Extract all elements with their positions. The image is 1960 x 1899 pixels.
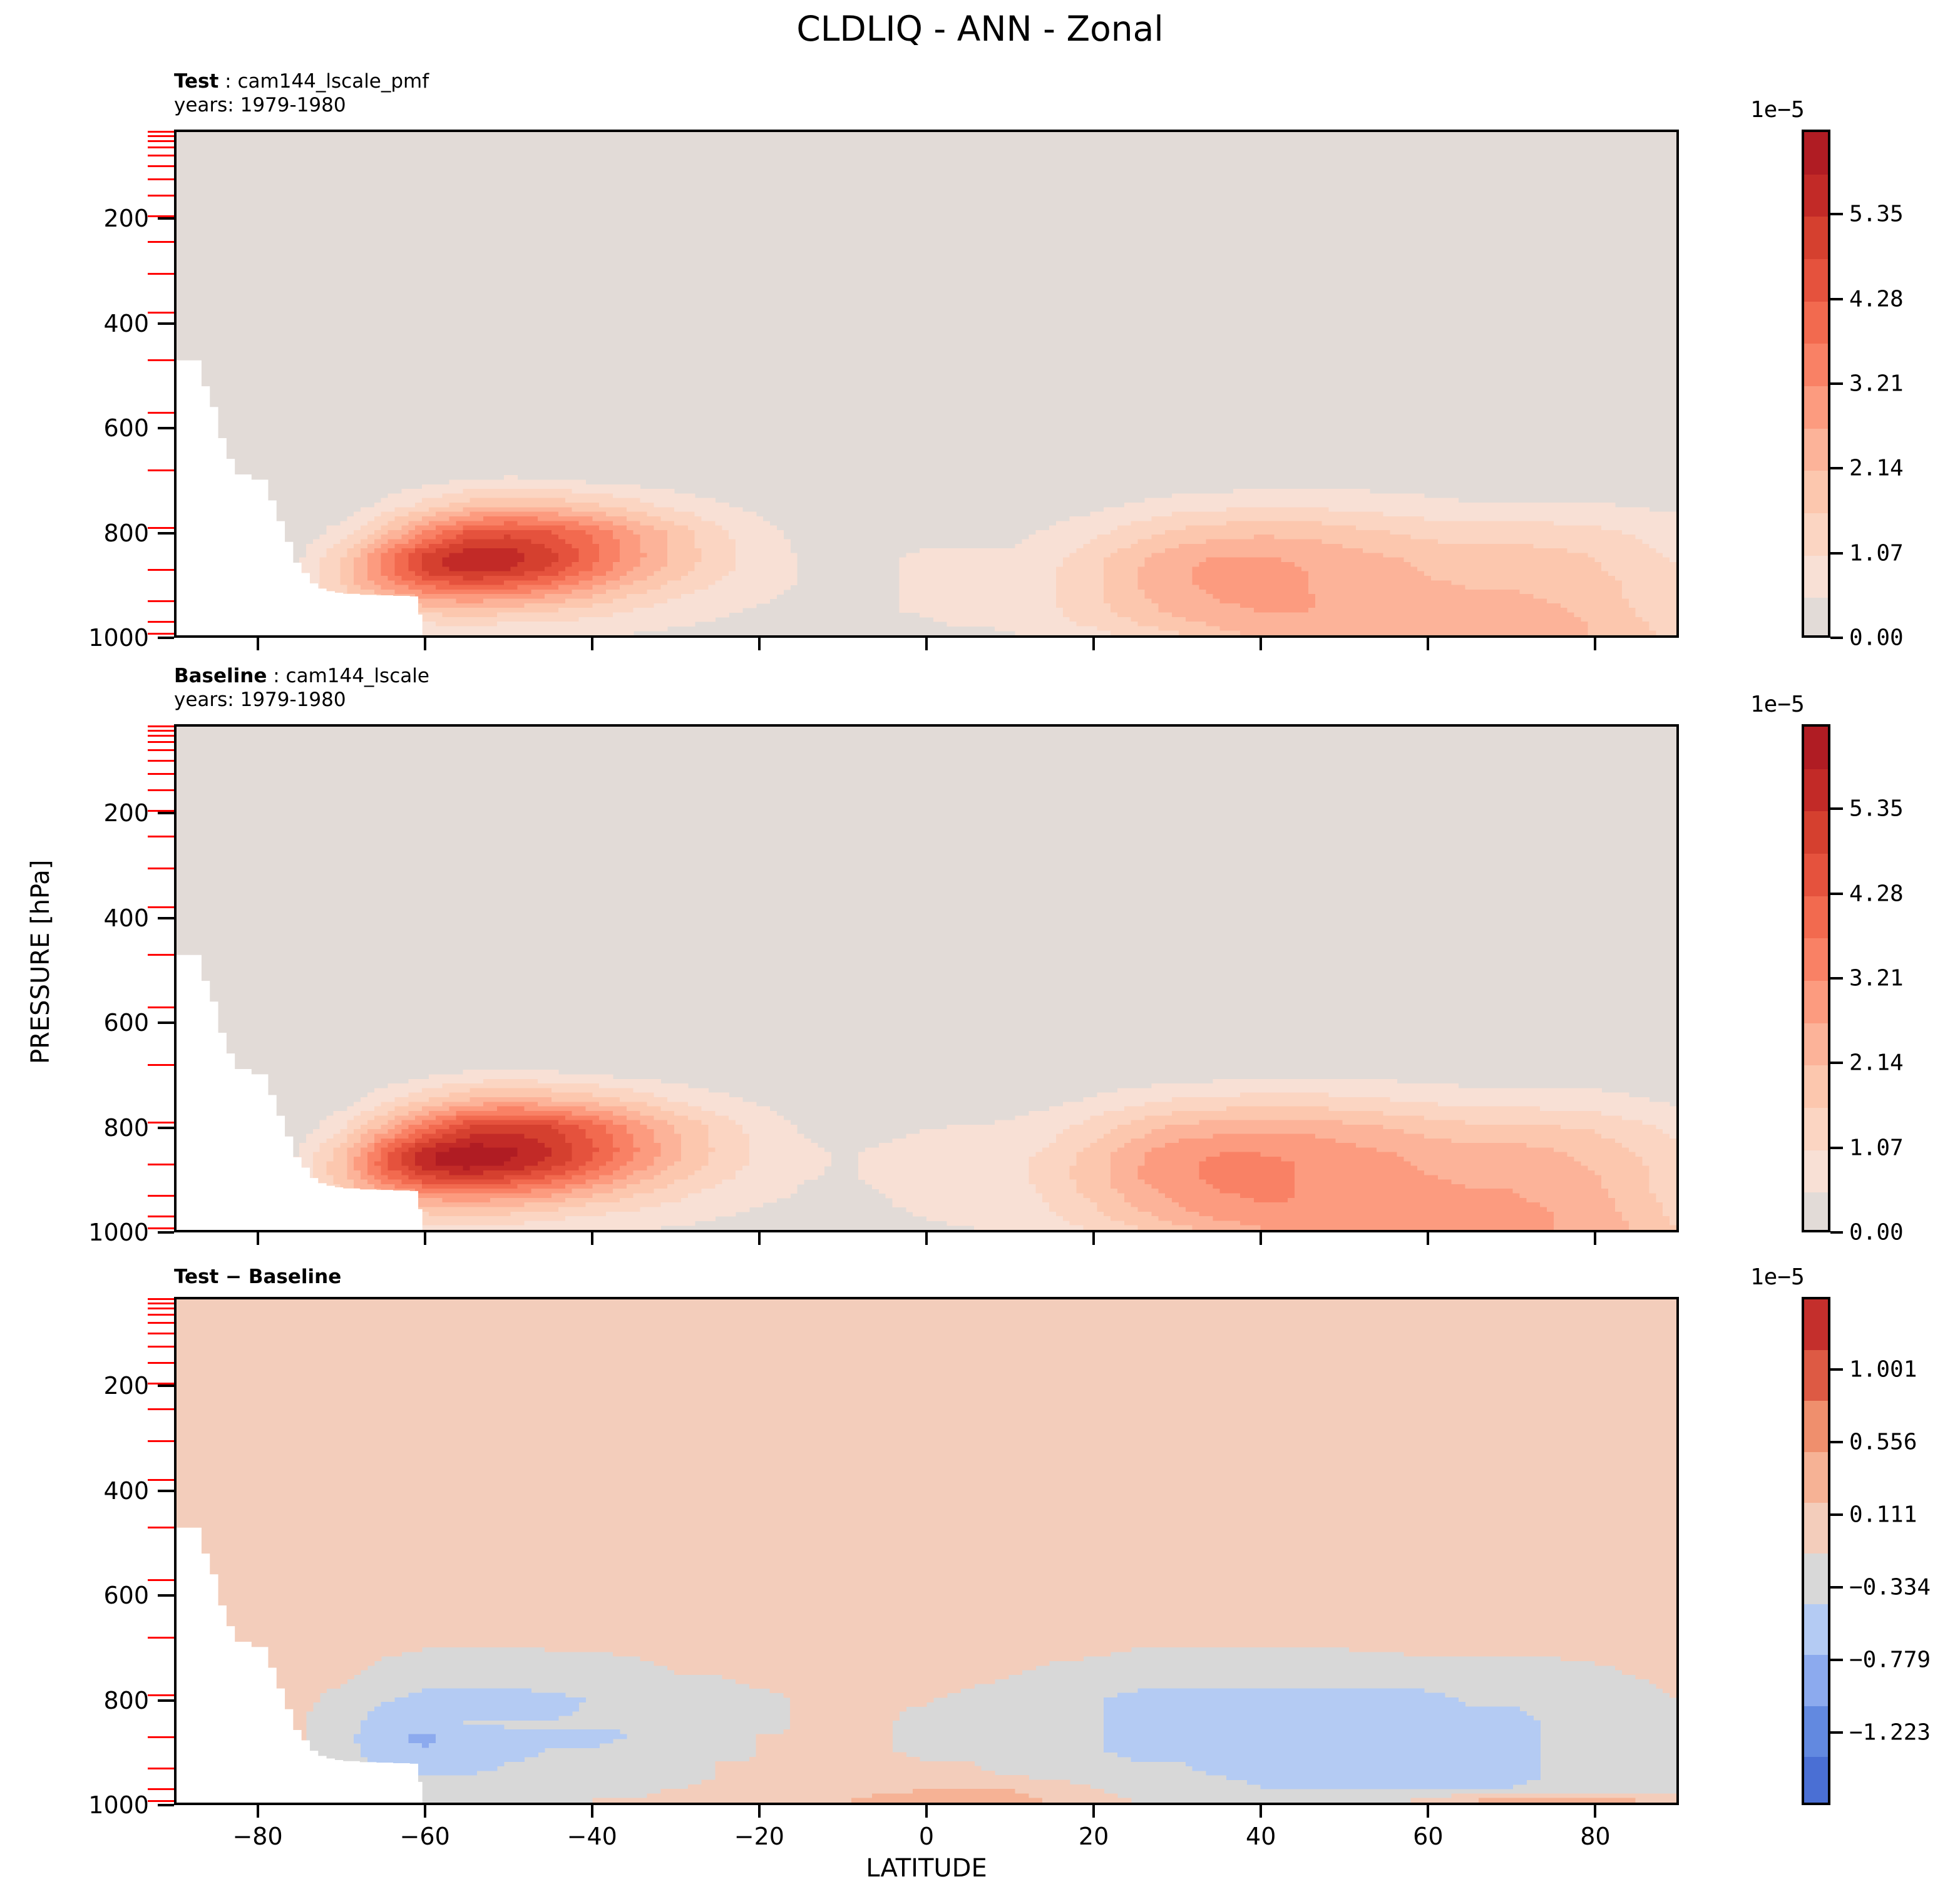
- panel-difference: Test − Baseline: [0, 0, 1960, 1899]
- ytick-label: 800: [36, 1114, 149, 1142]
- ytick-minor-level: [148, 569, 174, 571]
- xtick-major: [1260, 1232, 1262, 1245]
- colorbar-segment: [1804, 811, 1828, 854]
- colorbar-tick: [1830, 213, 1843, 215]
- colorbar-segment: [1804, 727, 1828, 769]
- xtick-label: 0: [919, 1823, 934, 1850]
- colorbar-tick: [1830, 1513, 1843, 1516]
- colorbar-segment: [1804, 1503, 1828, 1553]
- ytick-minor-level: [148, 165, 174, 167]
- xtick-major: [1092, 638, 1095, 650]
- colorbar-tick: [1830, 807, 1843, 810]
- ytick-label: 1000: [36, 624, 149, 652]
- ytick-minor-level: [148, 730, 174, 732]
- colorbar-segment: [1804, 1655, 1828, 1706]
- colorbar-tick: [1830, 1731, 1843, 1734]
- ytick-minor-level: [148, 1006, 174, 1008]
- ytick-minor-level: [148, 1768, 174, 1769]
- ytick-minor-level: [148, 312, 174, 314]
- colorbar-tick: [1830, 1062, 1843, 1064]
- colorbar-segment: [1804, 344, 1828, 386]
- colorbar-tick-label: 1.001: [1849, 1357, 1917, 1383]
- panel-difference-header-bold: Test − Baseline: [174, 1266, 341, 1288]
- colorbar-segment: [1804, 1065, 1828, 1108]
- xtick-major: [925, 1805, 928, 1818]
- colorbar-segment: [1804, 1192, 1828, 1232]
- ytick-minor-level: [148, 146, 174, 148]
- ytick-major: [158, 1699, 174, 1702]
- colorbar-tick-label: 1.07: [1849, 540, 1904, 566]
- colorbar-tick-label: 0.556: [1849, 1430, 1917, 1455]
- xtick-major: [1092, 1232, 1095, 1245]
- xtick-label: −40: [567, 1823, 617, 1850]
- colorbar-tick-label: 4.28: [1849, 881, 1904, 906]
- figure-root: CLDLIQ - ANN - Zonal Test : cam144_lscal…: [0, 0, 1960, 1899]
- xtick-major: [424, 1232, 426, 1245]
- xtick-label: 80: [1580, 1823, 1610, 1850]
- xtick-major: [591, 638, 593, 650]
- colorbar-baseline: [1802, 724, 1830, 1232]
- colorbar-tick: [1830, 1368, 1843, 1371]
- ytick-minor-level: [148, 1346, 174, 1348]
- ytick-minor-level: [148, 155, 174, 156]
- colorbar-segment: [1804, 769, 1828, 812]
- ytick-major: [158, 1021, 174, 1024]
- colorbar-tick-label: 5.35: [1849, 796, 1904, 822]
- ytick-minor-level: [148, 633, 174, 635]
- axis-x-label: LATITUDE: [866, 1854, 987, 1883]
- colorbar-segment: [1804, 175, 1828, 217]
- ytick-minor-level: [148, 131, 174, 133]
- ytick-major: [158, 917, 174, 919]
- ytick-minor-level: [148, 741, 174, 743]
- colorbar-segment: [1804, 259, 1828, 302]
- xtick-major: [758, 1805, 761, 1818]
- ytick-minor-level: [148, 773, 174, 775]
- colorbar-tick-label: 2.14: [1849, 1050, 1904, 1076]
- ytick-minor-level: [148, 1479, 174, 1481]
- colorbar-tick: [1830, 1586, 1843, 1589]
- axis-y-label: PRESSURE [hPa]: [26, 860, 55, 1064]
- colorbar-tick: [1830, 1231, 1843, 1234]
- ytick-major: [158, 1594, 174, 1597]
- ytick-minor-level: [148, 906, 174, 908]
- ytick-minor-level: [148, 1408, 174, 1410]
- colorbar-segment: [1804, 1023, 1828, 1066]
- xtick-major: [1427, 1232, 1429, 1245]
- ytick-minor-level: [148, 1322, 174, 1324]
- ytick-minor-level: [148, 527, 174, 529]
- ytick-minor-level: [148, 1314, 174, 1316]
- ytick-label: 800: [36, 520, 149, 547]
- ytick-major: [158, 1385, 174, 1387]
- ytick-minor-level: [148, 760, 174, 762]
- colorbar-tick-label: 5.35: [1849, 202, 1904, 227]
- plot-area-difference[interactable]: [174, 1297, 1679, 1805]
- xtick-label: 60: [1413, 1823, 1443, 1850]
- contour-field-difference: [177, 1299, 1676, 1803]
- colorbar-segment: [1804, 1350, 1828, 1401]
- ytick-minor-level: [148, 273, 174, 275]
- colorbar-tick: [1830, 977, 1843, 980]
- xtick-label: 20: [1079, 1823, 1109, 1850]
- colorbar-tick-label: 0.00: [1849, 1220, 1904, 1246]
- ytick-minor-level: [148, 836, 174, 837]
- ytick-minor-level: [148, 195, 174, 197]
- xtick-major: [1427, 1805, 1429, 1818]
- colorbar-segment: [1804, 1150, 1828, 1193]
- ytick-label: 1000: [36, 1791, 149, 1819]
- ytick-minor-level: [148, 215, 174, 217]
- ytick-major: [158, 217, 174, 220]
- ytick-minor-level: [148, 1440, 174, 1442]
- ytick-minor-level: [148, 359, 174, 361]
- colorbar-exponent-label: 1e−5: [1750, 692, 1805, 717]
- colorbar-segment: [1804, 386, 1828, 429]
- colorbar-segment: [1804, 1553, 1828, 1604]
- colorbar-segment: [1804, 1401, 1828, 1451]
- xtick-major: [1260, 638, 1262, 650]
- ytick-minor-level: [148, 1227, 174, 1229]
- ytick-minor-level: [148, 1579, 174, 1581]
- colorbar-tick: [1830, 298, 1843, 300]
- colorbar-difference: [1802, 1297, 1830, 1805]
- colorbar-segment: [1804, 513, 1828, 556]
- ytick-major: [158, 427, 174, 429]
- colorbar-tick: [1830, 467, 1843, 469]
- xtick-major: [1260, 1805, 1262, 1818]
- xtick-major: [1594, 1232, 1596, 1245]
- colorbar-segment: [1804, 854, 1828, 896]
- xtick-major: [591, 1805, 593, 1818]
- ytick-minor-level: [148, 135, 174, 137]
- colorbar-tick-label: 3.21: [1849, 966, 1904, 991]
- ytick-minor-level: [148, 1308, 174, 1309]
- ytick-label: 200: [36, 799, 149, 827]
- xtick-major: [424, 1805, 426, 1818]
- ytick-minor-level: [148, 621, 174, 623]
- ytick-minor-level: [148, 735, 174, 737]
- ytick-label: 200: [36, 1372, 149, 1400]
- colorbar-segment: [1804, 429, 1828, 471]
- ytick-minor-level: [148, 1122, 174, 1124]
- xtick-major: [925, 638, 928, 650]
- ytick-label: 600: [36, 1582, 149, 1609]
- ytick-label: 200: [36, 205, 149, 232]
- ytick-minor-level: [148, 954, 174, 956]
- colorbar-tick-label: −0.779: [1849, 1647, 1931, 1673]
- ytick-label: 400: [36, 310, 149, 337]
- colorbar-tick-label: 3.21: [1849, 371, 1904, 397]
- panel-difference-header: Test − Baseline: [174, 1266, 341, 1289]
- colorbar-tick: [1830, 1441, 1843, 1443]
- ytick-minor-level: [148, 810, 174, 812]
- xtick-major: [257, 1232, 259, 1245]
- ytick-minor-level: [148, 1694, 174, 1696]
- colorbar-segment: [1804, 132, 1828, 175]
- colorbar-test: [1802, 130, 1830, 638]
- ytick-minor-level: [148, 749, 174, 751]
- colorbar-tick: [1830, 1659, 1843, 1661]
- ytick-minor-level: [148, 1164, 174, 1165]
- colorbar-tick: [1830, 552, 1843, 555]
- ytick-minor-level: [148, 1527, 174, 1528]
- ytick-minor-level: [148, 1637, 174, 1639]
- ytick-minor-level: [148, 1333, 174, 1334]
- colorbar-tick: [1830, 893, 1843, 895]
- ytick-minor-level: [148, 1736, 174, 1738]
- colorbar-segment: [1804, 598, 1828, 638]
- colorbar-segment: [1804, 1299, 1828, 1350]
- colorbar-tick-label: −1.223: [1849, 1720, 1931, 1746]
- colorbar-segment: [1804, 556, 1828, 598]
- xtick-label: 40: [1246, 1823, 1276, 1850]
- ytick-minor-level: [148, 1303, 174, 1304]
- ytick-minor-level: [148, 1788, 174, 1790]
- xtick-major: [424, 638, 426, 650]
- ytick-major: [158, 812, 174, 814]
- xtick-major: [758, 1232, 761, 1245]
- ytick-major: [158, 1490, 174, 1492]
- ytick-minor-level: [148, 725, 174, 727]
- colorbar-exponent-label: 1e−5: [1750, 1264, 1805, 1290]
- xtick-major: [758, 638, 761, 650]
- colorbar-segment: [1804, 1757, 1828, 1805]
- colorbar-tick: [1830, 1147, 1843, 1149]
- ytick-minor-level: [148, 469, 174, 471]
- ytick-minor-level: [148, 868, 174, 869]
- colorbar-segment: [1804, 1604, 1828, 1655]
- xtick-major: [591, 1232, 593, 1245]
- ytick-minor-level: [148, 1216, 174, 1217]
- ytick-label: 400: [36, 1477, 149, 1505]
- xtick-major: [925, 1232, 928, 1245]
- ytick-minor-level: [148, 1383, 174, 1385]
- ytick-minor-level: [148, 178, 174, 180]
- ytick-minor-level: [148, 140, 174, 142]
- ytick-major: [158, 637, 174, 639]
- ytick-minor-level: [148, 241, 174, 243]
- xtick-major: [257, 638, 259, 650]
- colorbar-tick-label: 0.111: [1849, 1502, 1917, 1528]
- colorbar-tick-label: 4.28: [1849, 286, 1904, 312]
- ytick-label: 600: [36, 414, 149, 442]
- colorbar-tick-label: −0.334: [1849, 1575, 1931, 1600]
- ytick-minor-level: [148, 1298, 174, 1300]
- ytick-label: 800: [36, 1687, 149, 1714]
- ytick-minor-level: [148, 1195, 174, 1197]
- ytick-major: [158, 1231, 174, 1234]
- ytick-major: [158, 1127, 174, 1129]
- colorbar-tick-label: 1.07: [1849, 1135, 1904, 1160]
- colorbar-segment: [1804, 938, 1828, 981]
- xtick-label: −80: [232, 1823, 282, 1850]
- colorbar-segment: [1804, 471, 1828, 513]
- xtick-major: [1594, 1805, 1596, 1818]
- colorbar-segment: [1804, 1108, 1828, 1150]
- colorbar-exponent-label: 1e−5: [1750, 97, 1805, 123]
- xtick-major: [257, 1805, 259, 1818]
- colorbar-segment: [1804, 896, 1828, 939]
- xtick-major: [1092, 1805, 1095, 1818]
- xtick-major: [1594, 638, 1596, 650]
- xtick-label: −60: [400, 1823, 450, 1850]
- ytick-minor-level: [148, 412, 174, 414]
- colorbar-tick: [1830, 382, 1843, 385]
- ytick-minor-level: [148, 1800, 174, 1802]
- colorbar-tick-label: 2.14: [1849, 456, 1904, 481]
- ytick-minor-level: [148, 1064, 174, 1066]
- ytick-minor-level: [148, 1362, 174, 1364]
- ytick-major: [158, 1804, 174, 1806]
- ytick-minor-level: [148, 600, 174, 602]
- colorbar-tick-label: 0.00: [1849, 625, 1904, 651]
- ytick-minor-level: [148, 789, 174, 791]
- xtick-major: [1427, 638, 1429, 650]
- colorbar-tick: [1830, 637, 1843, 639]
- xtick-label: −20: [734, 1823, 784, 1850]
- ytick-label: 1000: [36, 1219, 149, 1246]
- ytick-major: [158, 322, 174, 325]
- ytick-major: [158, 532, 174, 535]
- colorbar-segment: [1804, 217, 1828, 259]
- colorbar-segment: [1804, 1452, 1828, 1503]
- colorbar-segment: [1804, 1706, 1828, 1757]
- colorbar-segment: [1804, 302, 1828, 344]
- colorbar-segment: [1804, 981, 1828, 1023]
